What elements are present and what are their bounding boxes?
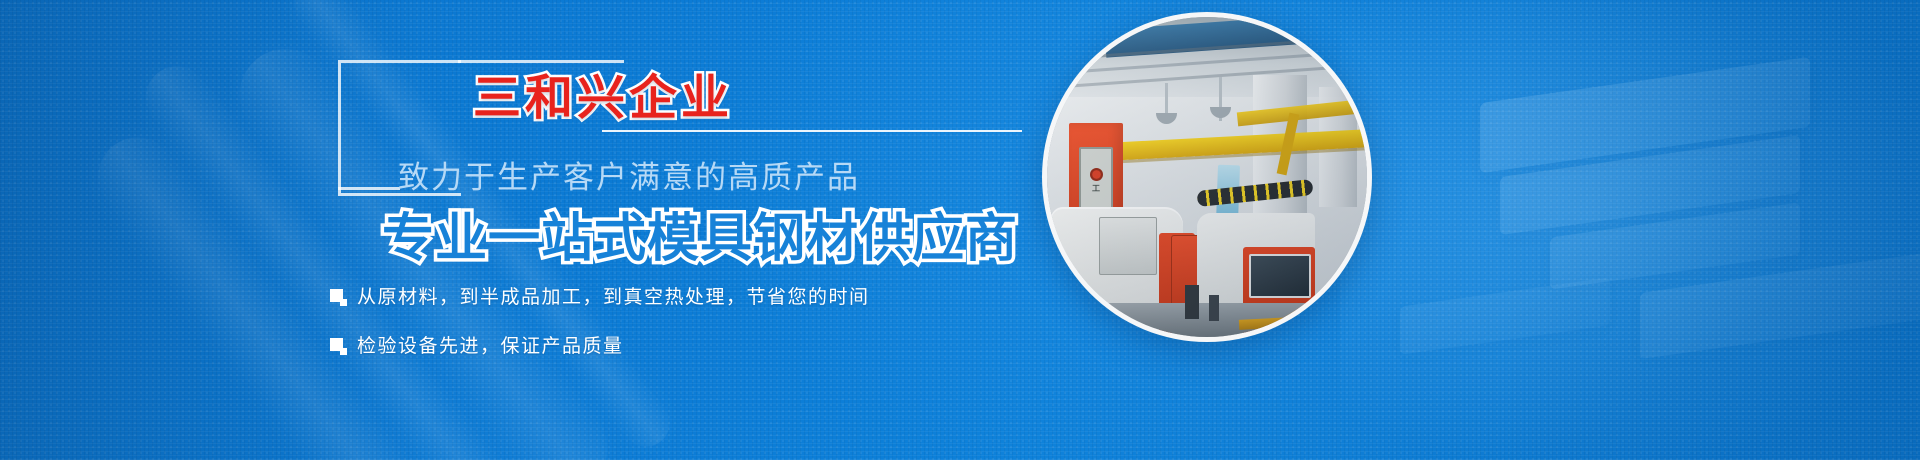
banner-subtitle: 致力于生产客户满意的高质产品 bbox=[398, 152, 860, 197]
list-item-label: 检验设备先进，保证产品质量 bbox=[357, 331, 624, 358]
brand-title: 三和兴企业 bbox=[473, 58, 733, 128]
banner-headline: 专业一站式模具钢材供应商 bbox=[382, 196, 1018, 271]
steel-block bbox=[1400, 277, 1610, 355]
bullet-marker-icon bbox=[330, 289, 343, 302]
title-divider bbox=[602, 130, 1022, 132]
feature-list: 从原材料，到半成品加工，到真空热处理，节省您的时间 检验设备先进，保证产品质量 bbox=[330, 282, 1110, 380]
bullet-marker-icon bbox=[330, 338, 343, 351]
decorative-steel-blocks-right bbox=[1340, 60, 1920, 400]
photo-shading bbox=[1047, 17, 1367, 337]
factory-photo: 工 bbox=[1047, 17, 1367, 337]
steel-block bbox=[1480, 57, 1810, 173]
list-item: 从原材料，到半成品加工，到真空热处理，节省您的时间 bbox=[330, 282, 1110, 309]
promo-banner: 三和兴企业 致力于生产客户满意的高质产品 专业一站式模具钢材供应商 从原材料，到… bbox=[0, 0, 1920, 460]
background-glow bbox=[1340, 0, 1920, 460]
list-item-label: 从原材料，到半成品加工，到真空热处理，节省您的时间 bbox=[357, 282, 870, 309]
list-item: 检验设备先进，保证产品质量 bbox=[330, 331, 1110, 358]
steel-block bbox=[1550, 202, 1800, 289]
steel-block bbox=[1500, 135, 1800, 235]
steel-block bbox=[1640, 251, 1920, 359]
banner-copy: 三和兴企业 致力于生产客户满意的高质产品 专业一站式模具钢材供应商 从原材料，到… bbox=[330, 0, 1110, 460]
factory-photo-circle: 工 bbox=[1042, 12, 1372, 342]
